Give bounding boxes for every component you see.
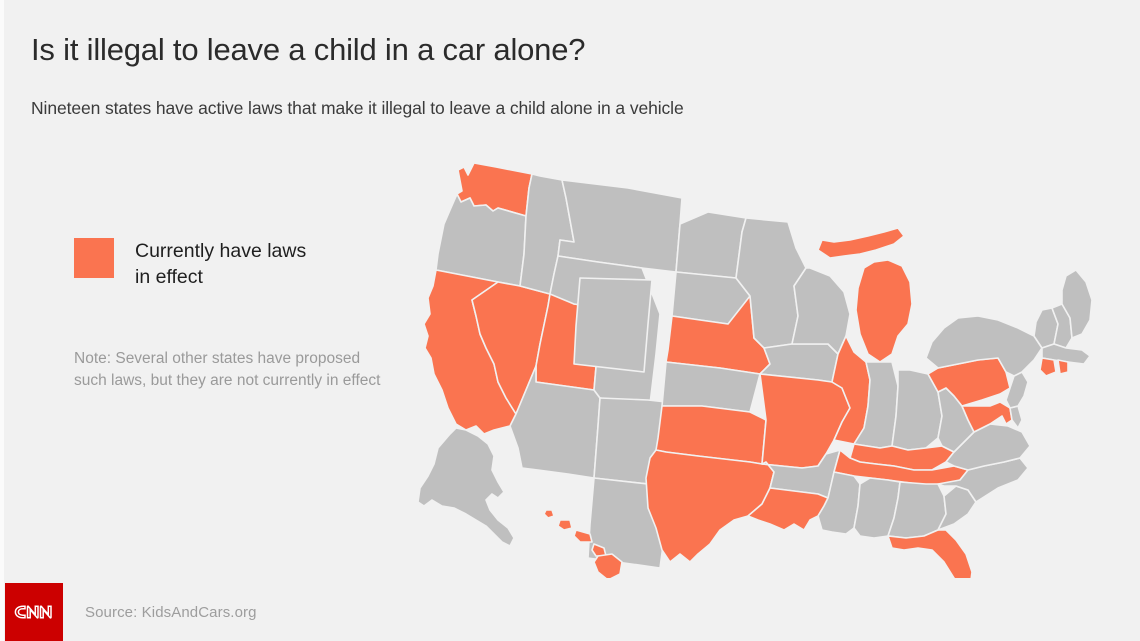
state-north-dakota <box>676 212 746 278</box>
us-choropleth-map <box>398 158 1098 578</box>
state-alaska <box>418 428 514 546</box>
map-legend: Currently have laws in effect <box>74 238 325 290</box>
state-michigan-lower <box>856 260 912 362</box>
legend-swatch-orange <box>74 238 114 278</box>
state-wyoming-shape <box>574 278 652 372</box>
cnn-logo <box>5 583 63 641</box>
state-rhode-island <box>1058 360 1068 374</box>
state-new-jersey <box>1006 372 1028 408</box>
source-label: Source: KidsAndCars.org <box>85 604 257 621</box>
left-edge-strip <box>0 0 4 641</box>
cnn-logo-mark <box>12 603 56 621</box>
page-title: Is it illegal to leave a child in a car … <box>31 32 585 68</box>
state-florida <box>888 530 972 578</box>
map-svg <box>398 158 1098 578</box>
map-note: Note: Several other states have proposed… <box>74 348 384 393</box>
legend-label: Currently have laws in effect <box>135 238 325 290</box>
page-subtitle: Nineteen states have active laws that ma… <box>31 98 684 119</box>
state-michigan-upper <box>818 228 904 258</box>
footer: Source: KidsAndCars.org <box>0 583 1140 641</box>
state-hawaii-island-1 <box>544 510 554 518</box>
state-texas <box>646 450 774 562</box>
state-wisconsin <box>792 268 850 354</box>
state-hawaii-island-2 <box>558 520 572 530</box>
state-delaware <box>1010 406 1022 428</box>
infographic-canvas: Is it illegal to leave a child in a car … <box>0 0 1140 641</box>
state-connecticut <box>1040 358 1056 376</box>
